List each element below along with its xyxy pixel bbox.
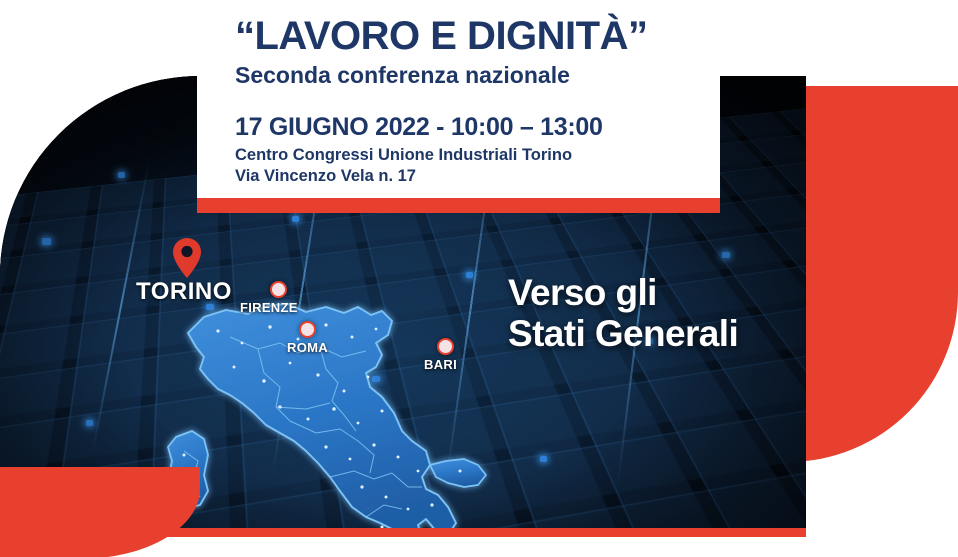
slogan: Verso gli Stati Generali	[508, 272, 738, 354]
venue-line-1: Centro Congressi Unione Industriali Tori…	[235, 145, 572, 166]
event-datetime: 17 GIUGNO 2022 - 10:00 – 13:00	[235, 113, 603, 141]
city-label-torino: TORINO	[136, 278, 232, 306]
venue-line-2: Via Vincenzo Vela n. 17	[235, 166, 572, 187]
city-label-firenze: FIRENZE	[240, 300, 298, 315]
city-label-roma: ROMA	[287, 340, 328, 355]
decorative-red-shape-bottom-left	[0, 467, 200, 557]
header-card: “LAVORO E DIGNITÀ” Seconda conferenza na…	[197, 0, 720, 198]
city-dot-firenze	[270, 281, 287, 298]
red-accent-bar-under-header	[197, 198, 720, 213]
location-pin-icon	[173, 238, 201, 278]
event-venue: Centro Congressi Unione Industriali Tori…	[235, 145, 572, 187]
city-dot-roma	[299, 321, 316, 338]
slogan-line-1: Verso gli	[508, 272, 738, 313]
red-accent-bar-footer	[0, 528, 806, 537]
slogan-line-2: Stati Generali	[508, 313, 738, 354]
city-dot-bari	[437, 338, 454, 355]
page-subtitle: Seconda conferenza nazionale	[235, 62, 570, 89]
city-label-bari: BARI	[424, 357, 457, 372]
page-title: “LAVORO E DIGNITÀ”	[235, 14, 705, 58]
poster-canvas: TORINO FIRENZE ROMA BARI Verso gli Stati…	[0, 0, 958, 557]
